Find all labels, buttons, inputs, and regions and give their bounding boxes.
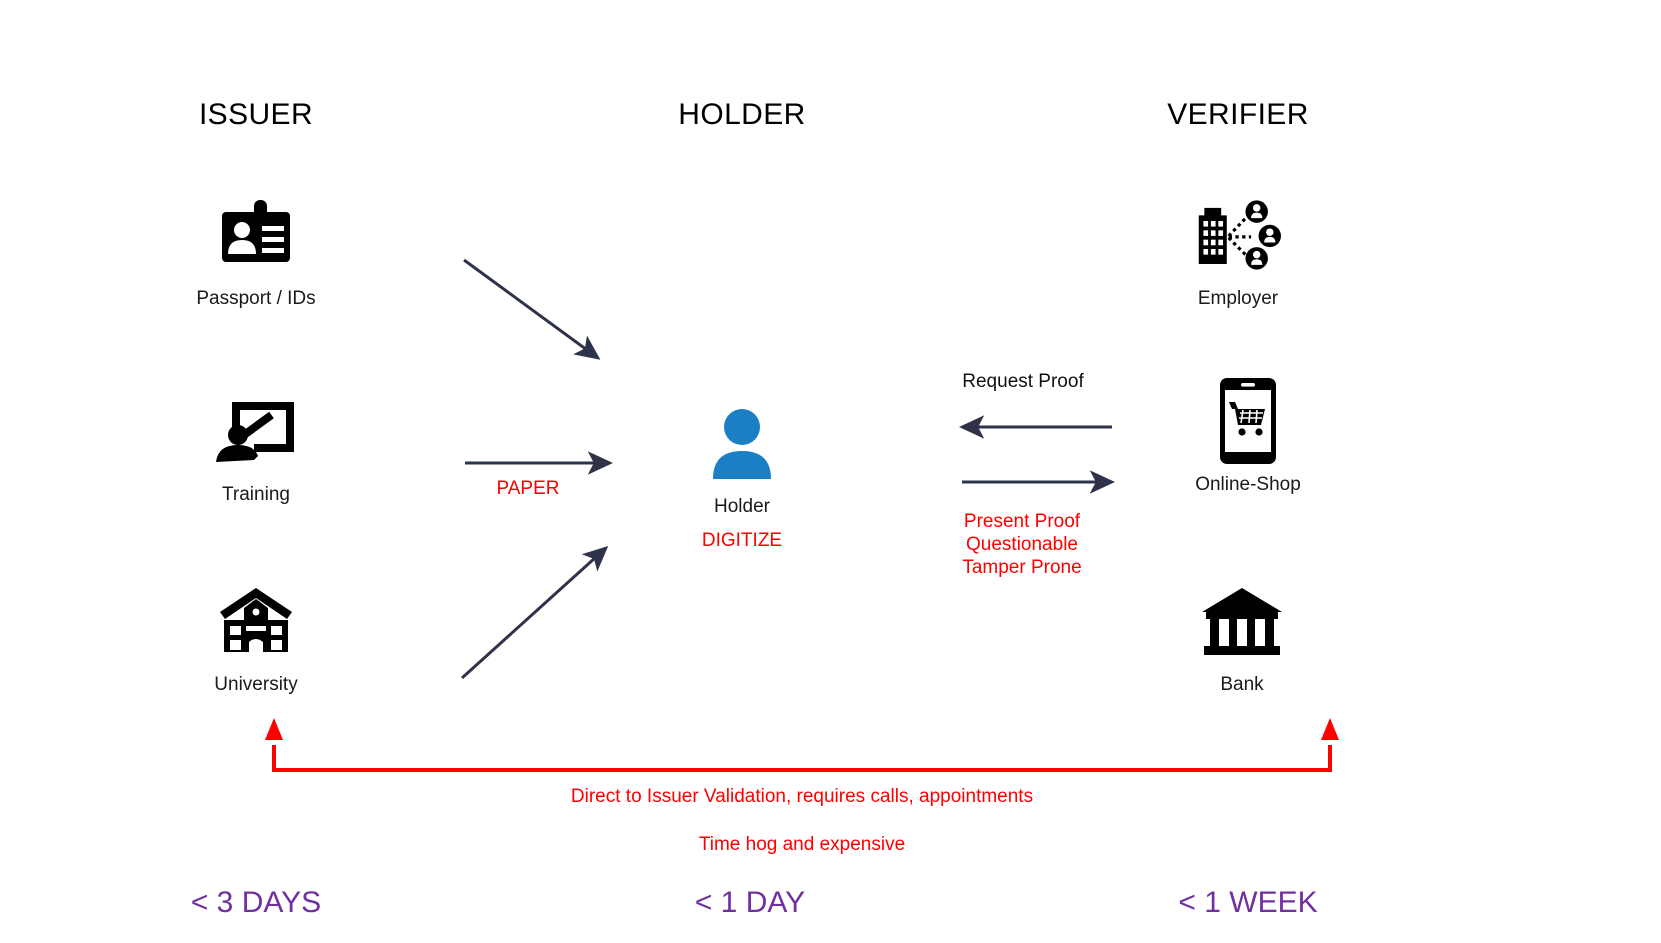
callout-direct-validation: Direct to Issuer Validation, requires ca… bbox=[502, 786, 1102, 808]
duration-holder: < 1 DAY bbox=[660, 886, 840, 920]
node-label: Online-Shop bbox=[1195, 474, 1301, 496]
node-label: Passport / IDs bbox=[196, 288, 315, 310]
mobile-cart-icon bbox=[1205, 378, 1291, 464]
node-training[interactable]: Training bbox=[166, 388, 346, 506]
arrow-passport-to-holder bbox=[464, 260, 598, 358]
duration-issuer: < 3 DAYS bbox=[156, 886, 356, 920]
present-proof-line-1: Present Proof bbox=[922, 510, 1122, 533]
column-title-holder: HOLDER bbox=[652, 98, 832, 132]
diagram-canvas: ISSUER HOLDER VERIFIER Passport / IDs bbox=[0, 0, 1661, 943]
column-title-issuer: ISSUER bbox=[166, 98, 346, 132]
column-title-verifier: VERIFIER bbox=[1148, 98, 1328, 132]
node-holder[interactable]: Holder DIGITIZE bbox=[652, 400, 832, 552]
node-university[interactable]: University bbox=[166, 578, 346, 696]
holder-digitize-label: DIGITIZE bbox=[702, 530, 782, 552]
present-proof-line-3: Tamper Prone bbox=[922, 556, 1122, 579]
node-label: University bbox=[214, 674, 297, 696]
node-label: Training bbox=[222, 484, 290, 506]
present-proof-line-2: Questionable bbox=[922, 533, 1122, 556]
duration-verifier: < 1 WEEK bbox=[1148, 886, 1348, 920]
whiteboard-presenter-icon bbox=[213, 388, 299, 474]
school-building-icon bbox=[213, 578, 299, 664]
node-online-shop[interactable]: Online-Shop bbox=[1158, 378, 1338, 496]
node-label: Employer bbox=[1198, 288, 1278, 310]
id-card-icon bbox=[213, 192, 299, 278]
office-network-icon bbox=[1195, 192, 1281, 278]
node-passport-ids[interactable]: Passport / IDs bbox=[166, 192, 346, 310]
node-bank[interactable]: Bank bbox=[1152, 578, 1332, 696]
node-label: Bank bbox=[1220, 674, 1263, 696]
flow-label-request-proof: Request Proof bbox=[908, 371, 1138, 393]
node-label: Holder bbox=[714, 496, 770, 518]
arrow-direct-issuer-validation bbox=[265, 718, 1339, 770]
person-icon bbox=[699, 400, 785, 486]
node-employer[interactable]: Employer bbox=[1148, 192, 1328, 310]
callout-time-hog: Time hog and expensive bbox=[502, 834, 1102, 856]
bank-icon bbox=[1199, 578, 1285, 664]
flow-label-present-proof: Present Proof Questionable Tamper Prone bbox=[922, 510, 1122, 580]
arrow-university-to-holder bbox=[462, 548, 606, 678]
flow-label-paper: PAPER bbox=[458, 478, 598, 500]
